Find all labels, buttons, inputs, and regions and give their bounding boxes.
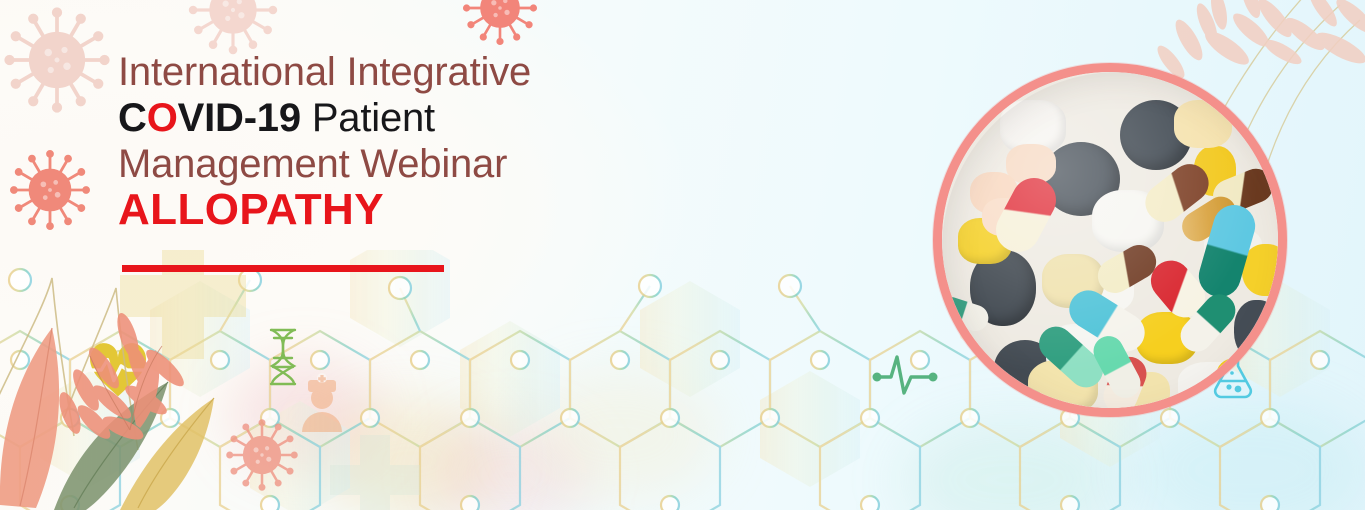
headline-line-2: COVID-19 Patient: [118, 98, 758, 138]
coronavirus-icon-top-left: [189, 0, 276, 54]
pills-photo: [942, 72, 1278, 408]
leaf-shape: [1155, 0, 1365, 82]
coronavirus-icon-left-lower: [10, 150, 89, 229]
allopathy-underline: [122, 265, 444, 272]
headline-block: International Integrative COVID-19 Patie…: [118, 52, 758, 232]
patient-word: Patient: [301, 96, 435, 140]
pills-photo-circle: [933, 63, 1287, 417]
headline-line-3: Management Webinar: [118, 144, 758, 184]
leaf-sprig-coral: [55, 311, 189, 445]
covid-suffix: VID-19: [178, 96, 301, 140]
headline-line-4-allopathy: ALLOPATHY: [118, 188, 758, 232]
leaf-cluster-bottom-left: [0, 250, 250, 510]
doctor-icon: [302, 373, 342, 432]
coronavirus-icon-top-center: [463, 0, 536, 45]
webinar-banner: International Integrative COVID-19 Patie…: [0, 0, 1365, 510]
covid-o-letter: O: [147, 96, 178, 140]
headline-line-1: International Integrative: [118, 52, 758, 92]
covid-prefix: C: [118, 96, 147, 140]
coronavirus-icon-left-upper: [5, 8, 109, 112]
dna-helix-icon: [271, 330, 295, 384]
leaf-shape-coral: [0, 328, 59, 508]
